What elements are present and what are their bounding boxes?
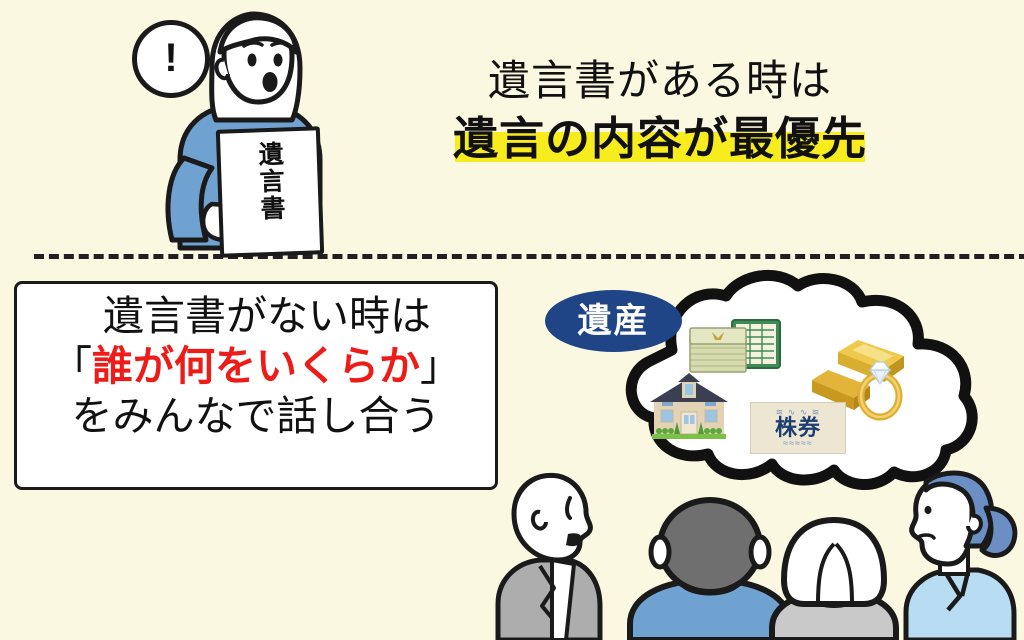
callout-line-2: 「誰が何をいくらか」 — [27, 341, 485, 391]
house-svg — [648, 372, 730, 442]
callout-open-quote: 「 — [51, 343, 92, 389]
cash-svg — [688, 318, 784, 380]
heading-line-2: 遺言の内容が最優先 — [453, 113, 867, 164]
exclamation-icon: ! — [164, 38, 177, 78]
will-document-paper: 遺言書 — [216, 126, 324, 258]
estate-badge-label: 遺産 — [578, 304, 650, 338]
house-icon — [648, 372, 730, 442]
stock-certificate-label: 株券 — [775, 417, 821, 439]
callout-emphasis-text: 誰が何をいくらか — [92, 343, 420, 389]
infographic-canvas: 遺言書がある時は 遺言の内容が最優先 — [0, 0, 1024, 640]
dashed-divider — [34, 254, 1024, 259]
person-woman-ponytail — [904, 470, 1024, 640]
callout-line-1: 遺言書がない時は — [27, 291, 485, 341]
woman-holding-will-illustration: 遺言書 ! — [120, 8, 355, 253]
elderly-man-svg — [496, 466, 604, 640]
heading-line-2-wrapper: 遺言の内容が最優先 — [453, 112, 867, 166]
woman-back-svg — [768, 518, 900, 640]
callout-close-quote: 」 — [420, 343, 461, 389]
will-document-label: 遺言書 — [256, 141, 284, 223]
no-will-callout-box: 遺言書がない時は 「誰が何をいくらか」 をみんなで話し合う — [14, 281, 498, 490]
stock-ornament-top: ≋ ∿ ∿ ≋ — [776, 408, 821, 417]
person-woman-back-view — [768, 518, 900, 640]
heading-line-1: 遺言書がある時は — [400, 55, 920, 106]
person-elderly-man-speaking — [496, 466, 604, 640]
top-heading-block: 遺言書がある時は 遺言の内容が最優先 — [400, 55, 920, 166]
woman-ponytail-svg — [904, 470, 1024, 640]
estate-badge: 遺産 — [545, 290, 682, 352]
stock-ornament-bottom: ≈≈≈≈≈ — [783, 439, 813, 448]
cash-bundles-icon — [688, 318, 784, 380]
exclamation-speech-bubble: ! — [132, 20, 210, 98]
callout-line-3: をみんなで話し合う — [27, 391, 485, 441]
stock-certificate-icon: ≋ ∿ ∿ ≋ 株券 ≈≈≈≈≈ — [750, 402, 846, 454]
